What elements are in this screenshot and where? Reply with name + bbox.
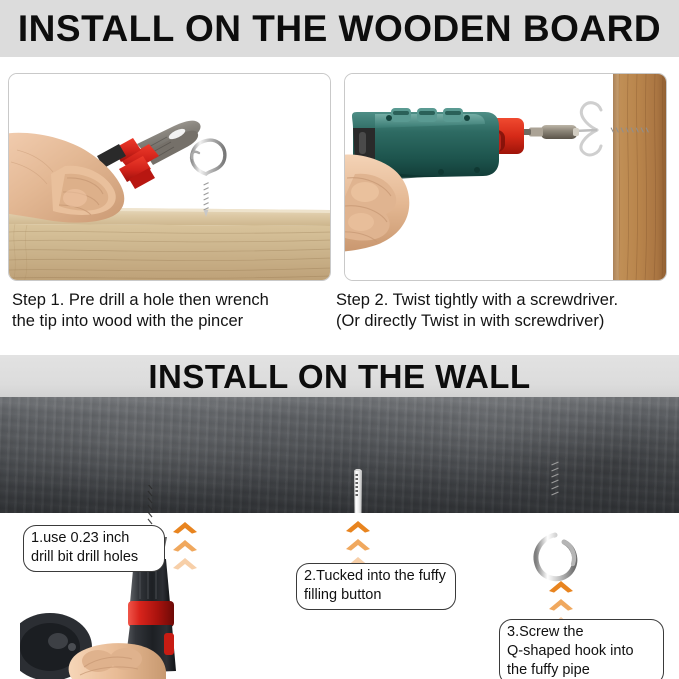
wall-installation-scene: 1.use 0.23 inch drill bit drill holes 2.…	[0, 397, 679, 679]
step-1-caption-line-1: Step 1. Pre drill a hole then wrench	[12, 290, 332, 311]
q-shaped-chrome-hook-screw	[524, 457, 586, 585]
step-1-photo	[8, 73, 331, 281]
section-title-wooden-board: INSTALL ON THE WOODEN BOARD	[18, 10, 661, 47]
section-banner-wooden-board: INSTALL ON THE WOODEN BOARD	[0, 0, 679, 57]
wall-callout-1-line-2: drill bit drill holes	[31, 548, 157, 567]
step-2-illustration	[345, 74, 667, 281]
step-2-photo	[344, 73, 667, 281]
wooden-post-shape	[613, 74, 667, 281]
wall-callout-1: 1.use 0.23 inch drill bit drill holes	[23, 525, 165, 572]
step-1-caption: Step 1. Pre drill a hole then wrench the…	[12, 290, 332, 332]
wall-callout-3: 3.Screw the Q-shaped hook into the fuffy…	[499, 619, 664, 679]
wall-callout-3-line-2: Q-shaped hook into	[507, 642, 656, 661]
section-banner-wall: INSTALL ON THE WALL	[0, 355, 679, 397]
step-2-caption: Step 2. Twist tightly with a screwdriver…	[336, 290, 656, 332]
product-instruction-infographic: INSTALL ON THE WOODEN BOARD	[0, 0, 679, 679]
wall-callout-3-line-3: the fuffy pipe	[507, 661, 656, 679]
chevron-up-arrow-icon	[172, 520, 198, 574]
step-2-caption-line-1: Step 2. Twist tightly with a screwdriver…	[336, 290, 656, 311]
step-2-caption-line-2: (Or directly Twist in with screwdriver)	[336, 311, 656, 332]
white-wall-plug-anchor	[348, 469, 368, 515]
wall-callout-2-line-1: 2.Tucked into the fuffy	[304, 567, 448, 586]
step-1-caption-line-2: the tip into wood with the pincer	[12, 311, 332, 332]
wall-callout-2-line-2: filling button	[304, 586, 448, 605]
cordless-drill-with-bit	[20, 485, 230, 679]
wall-callout-1-line-1: 1.use 0.23 inch	[31, 529, 157, 548]
step-1-illustration	[9, 74, 331, 281]
wall-callout-3-line-1: 3.Screw the	[507, 623, 656, 642]
section-title-wall: INSTALL ON THE WALL	[148, 360, 530, 393]
wall-callout-2: 2.Tucked into the fuffy filling button	[296, 563, 456, 610]
